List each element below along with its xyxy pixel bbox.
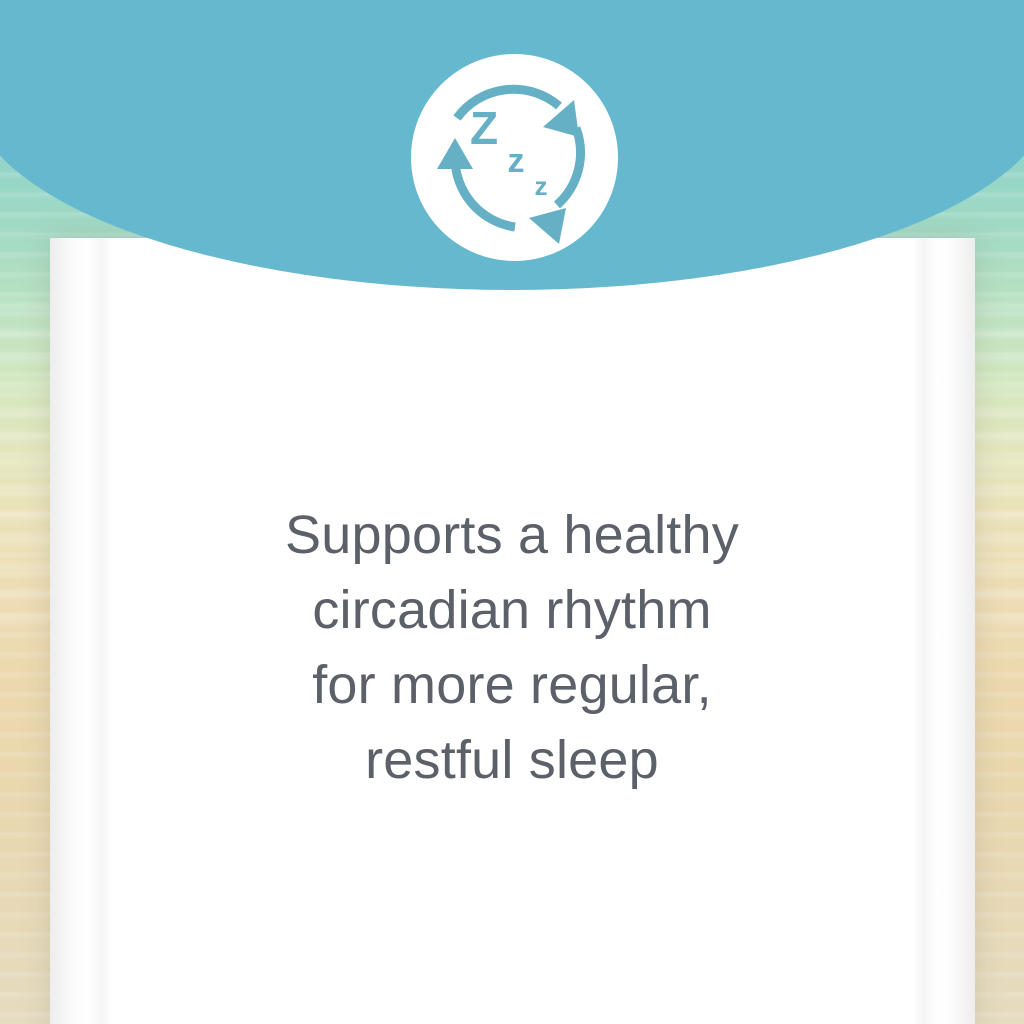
zzz-letter-medium: z: [508, 142, 525, 180]
sleep-cycle-icon: Z z z: [411, 54, 618, 261]
sleep-cycle-icon-badge: Z z z: [411, 54, 618, 261]
zzz-letter-small: z: [535, 171, 548, 201]
promo-slide: Z z z Supports a healthy circadian rhyth…: [0, 0, 1024, 1024]
arrowhead-left-up: [437, 138, 473, 169]
zzz-letter-large: Z: [470, 102, 498, 154]
arrowhead-bottom-right: [529, 208, 566, 244]
headline-text: Supports a healthy circadian rhythm for …: [100, 498, 924, 798]
arrowhead-top-right: [543, 100, 579, 137]
